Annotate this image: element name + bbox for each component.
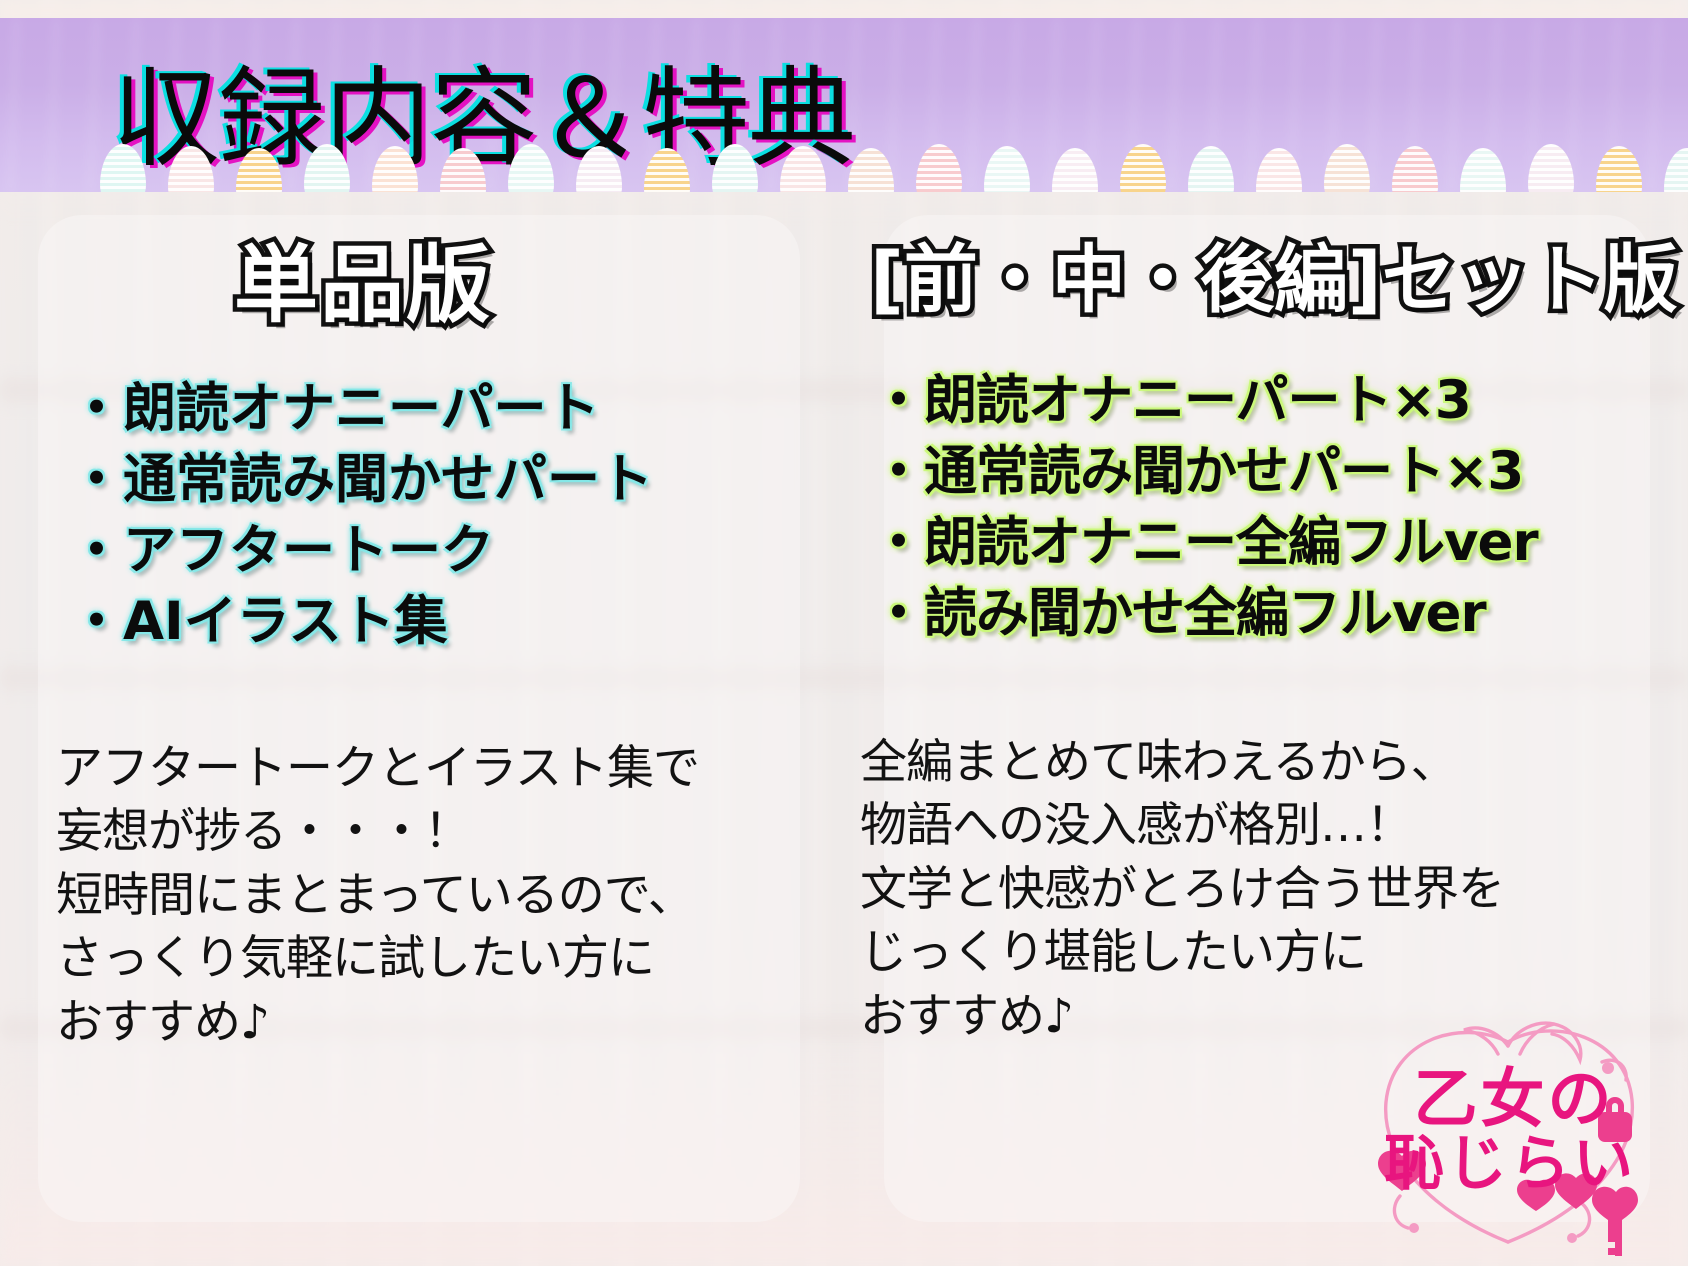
list-item: ・通常読み聞かせパート bbox=[38, 444, 828, 515]
poster-canvas: 収録内容＆特典 単品版 ・朗読オナニーパート ・通常読み聞かせパート ・アフター… bbox=[0, 0, 1688, 1266]
plan-title-single: 単品版 bbox=[234, 243, 492, 327]
list-item: ・通常読み聞かせパート×3 bbox=[860, 436, 1660, 507]
feature-list-set: ・朗読オナニーパート×3 ・通常読み聞かせパート×3 ・朗読オナニー全編フルve… bbox=[860, 365, 1660, 649]
plan-title-set: [前・中・後編]セット版 bbox=[870, 243, 1678, 317]
list-item: ・朗読オナニー全編フルver bbox=[860, 507, 1660, 578]
page-title: 収録内容＆特典 bbox=[112, 32, 854, 188]
list-item: ・アフタートーク bbox=[38, 515, 828, 586]
feature-list-single: ・朗読オナニーパート ・通常読み聞かせパート ・アフタートーク ・AIイラスト集 bbox=[38, 373, 828, 657]
plan-description-single: アフタートークとイラスト集で 妄想が捗る・・・！ 短時間にまとまっているので、 … bbox=[56, 737, 699, 1054]
list-item: ・朗読オナニーパート×3 bbox=[860, 365, 1660, 436]
list-item: ・AIイラスト集 bbox=[38, 586, 828, 657]
plan-column-single: 単品版 ・朗読オナニーパート ・通常読み聞かせパート ・アフタートーク ・AIイ… bbox=[38, 215, 828, 1222]
plan-column-set: [前・中・後編]セット版 ・朗読オナニーパート×3 ・通常読み聞かせパート×3 … bbox=[860, 215, 1660, 1222]
header-banner: 収録内容＆特典 bbox=[0, 18, 1688, 192]
list-item: ・朗読オナニーパート bbox=[38, 373, 828, 444]
list-item: ・読み聞かせ全編フルver bbox=[860, 578, 1660, 649]
plan-description-set: 全編まとめて味わえるから、 物語への没入感が格別…！ 文学と快感がとろけ合う世界… bbox=[860, 731, 1504, 1048]
